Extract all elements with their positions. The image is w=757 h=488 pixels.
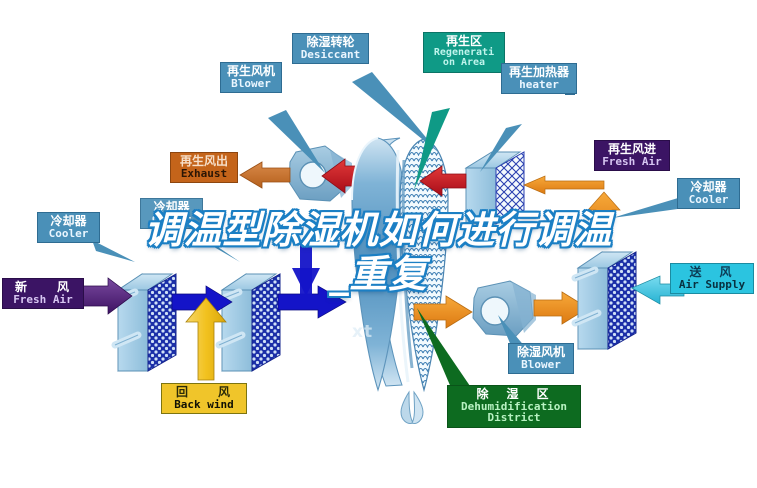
callout-fresh-air-inlet: 新 风 Fresh Air bbox=[2, 278, 84, 309]
callout-dehum-district-cn: 除 湿 区 bbox=[452, 388, 576, 401]
callout-regen-area: 再生区 Regenerati on Area bbox=[423, 32, 505, 73]
callout-regen-blower: 再生风机 Blower bbox=[220, 62, 282, 93]
callout-regen-fresh-air: 再生风进 Fresh Air bbox=[594, 140, 670, 171]
callout-air-supply-en: Air Supply bbox=[675, 279, 749, 291]
regen-exhaust-arrow bbox=[240, 162, 290, 188]
callout-regen-heater-en: heater bbox=[506, 79, 572, 91]
callout-cooler-right-en: Cooler bbox=[682, 194, 735, 206]
callout-cooler-left-1: 冷却器 Cooler bbox=[37, 212, 100, 243]
callout-cooler-left-1-cn: 冷却器 bbox=[42, 215, 95, 228]
image-watermark: xt bbox=[352, 322, 373, 342]
callout-air-supply-cn: 送 风 bbox=[675, 266, 749, 279]
callout-regen-fresh-air-cn: 再生风进 bbox=[599, 143, 665, 156]
cooler-unit-1-shape bbox=[115, 274, 176, 371]
callout-desiccant-wheel: 除湿转轮 Desiccant bbox=[292, 33, 369, 64]
callout-regen-area-en-line2: on Area bbox=[428, 58, 500, 69]
callout-desiccant-wheel-en: Desiccant bbox=[297, 49, 364, 61]
cooler-unit-2-shape bbox=[219, 274, 280, 371]
callout-dehum-blower-en: Blower bbox=[513, 359, 569, 371]
reheat-coil-unit-shape bbox=[575, 252, 636, 349]
callout-back-wind-en: Back wind bbox=[166, 399, 242, 411]
regen-fresh-air-arrow bbox=[524, 176, 620, 236]
callout-desiccant-wheel-cn: 除湿转轮 bbox=[297, 36, 364, 49]
callout-fresh-air-inlet-en: Fresh Air bbox=[7, 294, 79, 306]
callout-back-wind-cn: 回 风 bbox=[166, 386, 242, 399]
callout-dehum-blower: 除湿风机 Blower bbox=[508, 343, 574, 374]
callout-fresh-air-inlet-cn: 新 风 bbox=[7, 281, 79, 294]
dehumidifier-schematic bbox=[0, 0, 757, 488]
callout-regen-exhaust-cn: 再生风出 bbox=[175, 155, 233, 168]
callout-regen-exhaust: 再生风出 Exhaust bbox=[170, 152, 238, 183]
callout-regen-exhaust-en: Exhaust bbox=[175, 168, 233, 180]
callout-regen-fresh-air-en: Fresh Air bbox=[599, 156, 665, 168]
callout-cooler-left-1-en: Cooler bbox=[42, 228, 95, 240]
condensate-drop-icon bbox=[401, 392, 423, 423]
callout-cooler-left-2-en: Cooler bbox=[145, 214, 198, 226]
diagram-canvas: 除湿转轮 Desiccant 再生风机 Blower 再生风出 Exhaust … bbox=[0, 0, 757, 488]
callout-regen-area-cn: 再生区 bbox=[428, 35, 500, 48]
callout-dehum-district-en-line2: District bbox=[452, 412, 576, 424]
callout-cooler-right-cn: 冷却器 bbox=[682, 181, 735, 194]
regen-heater-shape bbox=[466, 152, 524, 224]
callout-air-supply: 送 风 Air Supply bbox=[670, 263, 754, 294]
callout-dehum-blower-cn: 除湿风机 bbox=[513, 346, 569, 359]
duct-connector bbox=[292, 240, 320, 300]
callout-regen-blower-cn: 再生风机 bbox=[225, 65, 277, 78]
callout-cooler-right: 冷却器 Cooler bbox=[677, 178, 740, 209]
callout-cooler-left-2-cn: 冷却器 bbox=[145, 201, 198, 214]
callout-regen-heater-cn: 再生加热器 bbox=[506, 66, 572, 79]
callout-regen-blower-en: Blower bbox=[225, 78, 277, 90]
callout-back-wind: 回 风 Back wind bbox=[161, 383, 247, 414]
callout-dehum-district: 除 湿 区 Dehumidification District bbox=[447, 385, 581, 428]
callout-cooler-left-2: 冷却器 Cooler bbox=[140, 198, 203, 229]
callout-regen-heater-main: 再生加热器 heater bbox=[501, 63, 577, 94]
